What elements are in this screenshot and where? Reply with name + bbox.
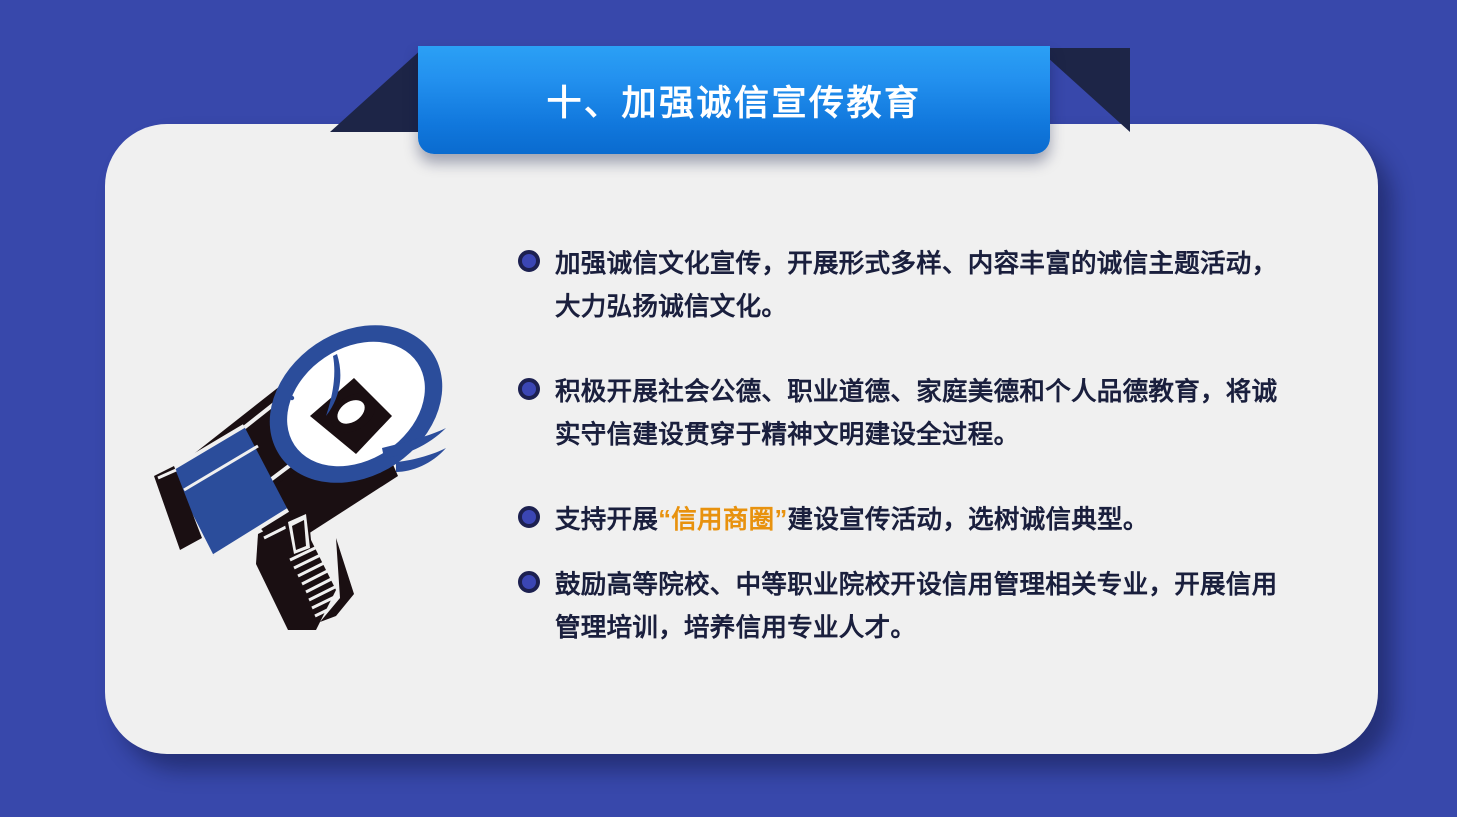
- bullet-dot-icon: [518, 378, 540, 400]
- slide-root: 十、加强诚信宣传教育: [0, 0, 1457, 817]
- bullet-dot-icon: [518, 506, 540, 528]
- bullet-text: 加强诚信文化宣传，开展形式多样、内容丰富的诚信主题活动，大力弘扬诚信文化。: [555, 243, 1278, 329]
- banner-tail-left-icon: [330, 48, 423, 132]
- bullet-text-segment: 建设宣传活动，选树诚信典型。: [788, 506, 1149, 534]
- list-item: 加强诚信文化宣传，开展形式多样、内容丰富的诚信主题活动，大力弘扬诚信文化。: [518, 243, 1278, 329]
- bullet-dot-icon: [518, 571, 540, 593]
- list-item: 支持开展“信用商圈”建设宣传活动，选树诚信典型。: [518, 499, 1278, 542]
- megaphone-icon: [140, 238, 510, 638]
- bullet-text-segment: 鼓励高等院校、中等职业院校开设信用管理相关专业，开展信用管理培训，培养信用专业人…: [555, 571, 1277, 642]
- bullet-highlight-term: “信用商圈”: [658, 506, 787, 534]
- banner-tail-right-icon: [1037, 48, 1130, 132]
- list-item: 积极开展社会公德、职业道德、家庭美德和个人品德教育，将诚实守信建设贯穿于精神文明…: [518, 371, 1278, 457]
- page-title: 十、加强诚信宣传教育: [546, 80, 921, 121]
- bullet-text-segment: 加强诚信文化宣传，开展形式多样、内容丰富的诚信主题活动，大力弘扬诚信文化。: [555, 250, 1277, 321]
- bullet-list: 加强诚信文化宣传，开展形式多样、内容丰富的诚信主题活动，大力弘扬诚信文化。 积极…: [518, 243, 1278, 650]
- bullet-text: 支持开展“信用商圈”建设宣传活动，选树诚信典型。: [555, 499, 1278, 542]
- bullet-text: 积极开展社会公德、职业道德、家庭美德和个人品德教育，将诚实守信建设贯穿于精神文明…: [555, 371, 1278, 457]
- bullet-text-segment: 积极开展社会公德、职业道德、家庭美德和个人品德教育，将诚实守信建设贯穿于精神文明…: [555, 378, 1277, 449]
- list-item: 鼓励高等院校、中等职业院校开设信用管理相关专业，开展信用管理培训，培养信用专业人…: [518, 564, 1278, 650]
- bullet-dot-icon: [518, 250, 540, 272]
- title-banner: 十、加强诚信宣传教育: [418, 46, 1050, 154]
- title-banner-group: 十、加强诚信宣传教育: [330, 46, 1130, 164]
- bullet-text: 鼓励高等院校、中等职业院校开设信用管理相关专业，开展信用管理培训，培养信用专业人…: [555, 564, 1278, 650]
- bullet-text-segment: 支持开展: [555, 506, 658, 534]
